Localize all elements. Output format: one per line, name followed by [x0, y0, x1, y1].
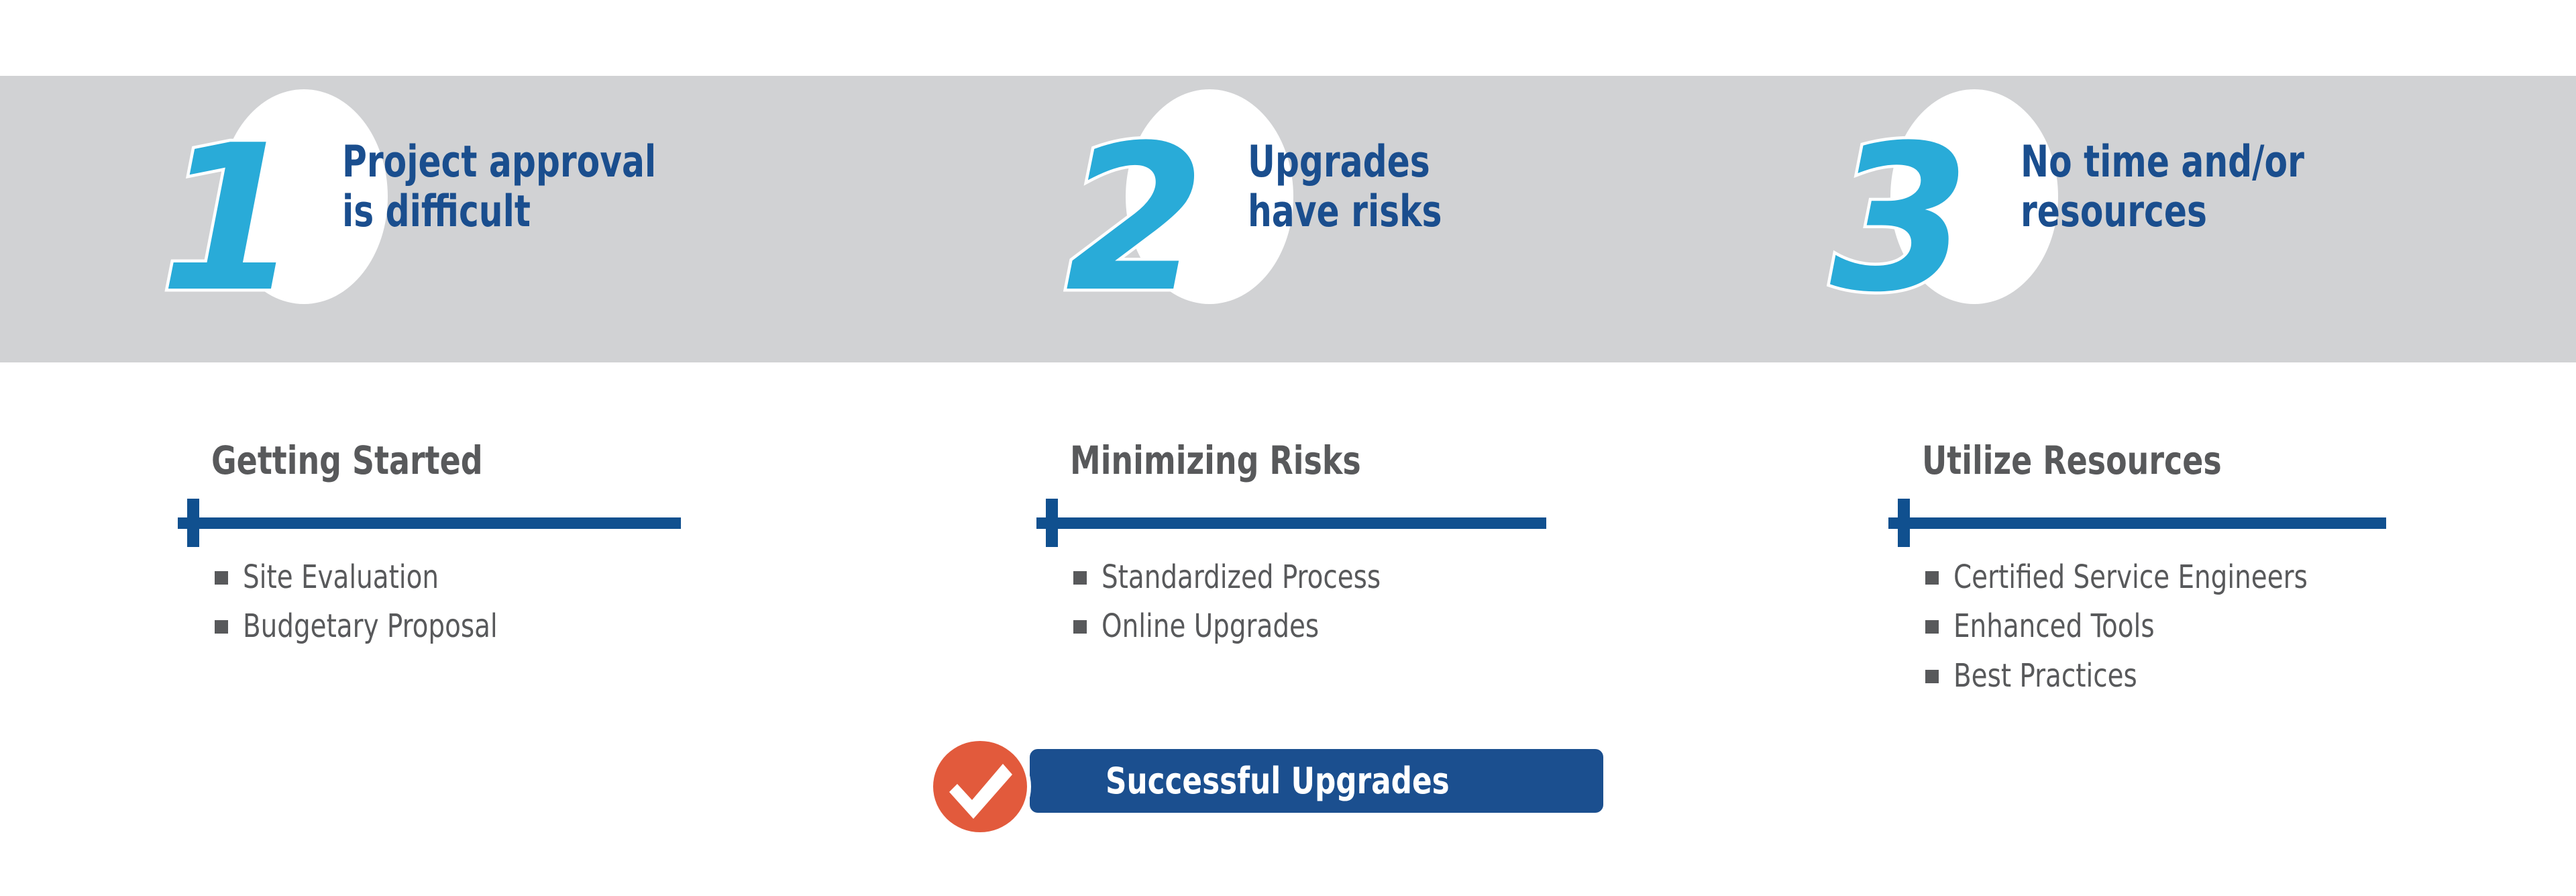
problem-item-3: 3 No time and/or resources [1811, 76, 2576, 362]
divider-horizontal-bar [1888, 517, 2386, 529]
square-bullet-icon [1925, 620, 1939, 634]
square-bullet-icon [215, 571, 228, 585]
check-mark-glyph [933, 741, 1027, 832]
list-item: Enhanced Tools [1925, 606, 2347, 647]
outcome-banner: Successful Upgrades [929, 737, 1647, 838]
divider-vertical-bar [1898, 499, 1910, 547]
outcome-label: Successful Upgrades [1106, 760, 1528, 802]
square-bullet-icon [1925, 571, 1939, 585]
divider-vertical-bar [1046, 499, 1058, 547]
outcome-bar: Successful Upgrades [1030, 749, 1603, 813]
bullet-list: Site Evaluation Budgetary Proposal [215, 557, 526, 656]
list-item: Site Evaluation [215, 557, 526, 598]
column-heading: Utilize Resources [1922, 438, 2222, 483]
divider-horizontal-bar [1036, 517, 1546, 529]
list-item: Certified Service Engineers [1925, 557, 2347, 598]
list-item-label: Online Upgrades [1102, 606, 1319, 647]
square-bullet-icon [1073, 571, 1087, 585]
divider-horizontal-bar [178, 517, 681, 529]
square-bullet-icon [215, 620, 228, 634]
problem-item-2: 2 Upgrades have risks [1046, 76, 1811, 362]
problem-title: No time and/or resources [2021, 138, 2493, 237]
bullet-list: Standardized Process Online Upgrades [1073, 557, 1411, 656]
list-item-label: Certified Service Engineers [1953, 557, 2308, 598]
bullet-list: Certified Service Engineers Enhanced Too… [1925, 557, 2347, 705]
column-heading: Getting Started [211, 438, 483, 483]
list-item: Online Upgrades [1073, 606, 1411, 647]
list-item-label: Enhanced Tools [1953, 606, 2155, 647]
square-bullet-icon [1073, 620, 1087, 634]
list-item-label: Budgetary Proposal [243, 606, 498, 647]
column-heading: Minimizing Risks [1070, 438, 1361, 483]
check-circle-icon [929, 737, 1031, 836]
problem-item-1: 1 Project approval is difficult [141, 76, 906, 362]
list-item-label: Best Practices [1953, 656, 2137, 697]
list-item: Best Practices [1925, 656, 2347, 697]
solutions-section: Getting Started Site Evaluation Budgetar… [0, 362, 2576, 698]
list-item: Standardized Process [1073, 557, 1411, 598]
problem-list: 1 Project approval is difficult 2 Upgrad… [0, 76, 2576, 362]
list-item-label: Site Evaluation [243, 557, 439, 598]
problem-band: 1 Project approval is difficult 2 Upgrad… [0, 76, 2576, 362]
square-bullet-icon [1925, 670, 1939, 683]
list-item: Budgetary Proposal [215, 606, 526, 647]
list-item-label: Standardized Process [1102, 557, 1381, 598]
problem-title: Upgrades have risks [1248, 138, 1721, 237]
divider-vertical-bar [187, 499, 199, 547]
problem-title: Project approval is difficult [342, 138, 815, 237]
